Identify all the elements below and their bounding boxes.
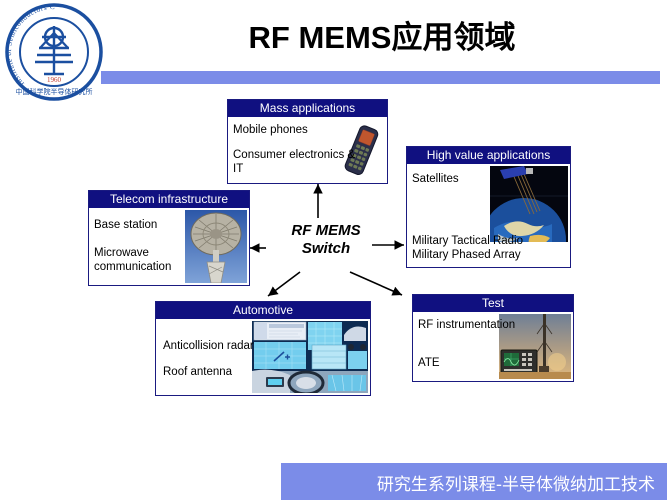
box-mass-applications-header: Mass applications — [228, 100, 387, 117]
svg-text:1960: 1960 — [47, 76, 62, 84]
box-automotive-item-0: Anticollision radar — [163, 339, 254, 353]
box-automotive[interactable]: Automotive — [155, 301, 371, 396]
box-telecom-infrastructure-item-1: Microwave communication — [94, 246, 180, 274]
svg-text:中国科学院半导体研究所: 中国科学院半导体研究所 — [16, 87, 93, 96]
box-test-item-1: ATE — [418, 356, 440, 370]
box-high-value-applications[interactable]: High value applications — [406, 146, 571, 268]
institute-logo-icon: Institute of Semiconductors CAS 1960 中国科… — [4, 2, 104, 102]
box-mass-applications[interactable]: Mass applications — [227, 99, 388, 184]
automotive-displays-photo — [252, 321, 368, 393]
box-high-value-applications-item-2: Military Phased Array — [412, 248, 521, 262]
institute-logo: Institute of Semiconductors CAS 1960 中国科… — [4, 2, 104, 102]
box-test-header: Test — [413, 295, 573, 312]
box-high-value-applications-item-0: Satellites — [412, 172, 459, 186]
center-node-line2: Switch — [268, 240, 384, 258]
satellite-over-earth-photo — [490, 166, 568, 242]
center-node-rf-mems-switch: RF MEMS Switch — [268, 222, 384, 258]
center-node-line1: RF MEMS — [268, 222, 384, 240]
title-underline-bar — [101, 71, 660, 84]
box-telecom-infrastructure-item-0: Base station — [94, 218, 157, 232]
box-telecom-infrastructure-header: Telecom infrastructure — [89, 191, 249, 208]
box-telecom-infrastructure[interactable]: Telecom infrastructure — [88, 190, 250, 286]
box-automotive-header: Automotive — [156, 302, 370, 319]
slide-canvas: Institute of Semiconductors CAS 1960 中国科… — [0, 0, 667, 500]
slide-title: RF MEMS应用领域 — [112, 12, 652, 57]
footer-text: 研究生系列课程-半导体微纳加工技术 — [377, 470, 655, 495]
box-test[interactable]: Test — [412, 294, 574, 382]
box-test-item-0: RF instrumentation — [418, 318, 515, 332]
box-high-value-applications-header: High value applications — [407, 147, 570, 164]
box-high-value-applications-item-1: Military Tactical Radio — [412, 234, 523, 248]
box-mass-applications-item-1: Consumer electronics & IT — [233, 148, 358, 176]
box-mass-applications-item-0: Mobile phones — [233, 123, 308, 137]
dish-antenna-photo — [185, 210, 247, 283]
box-automotive-item-1: Roof antenna — [163, 365, 232, 379]
